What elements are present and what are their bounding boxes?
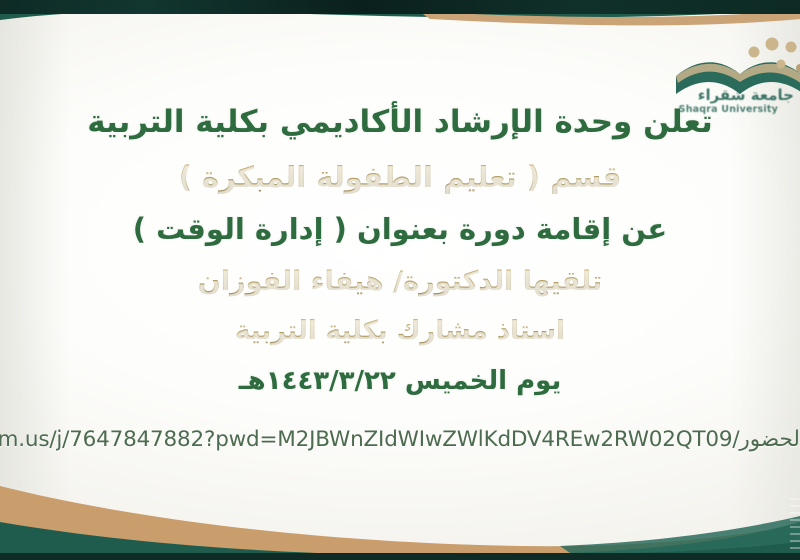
bottom-wave-decoration: [0, 450, 800, 560]
announcement-poster: جامعة شقراء Shaqra University تعلن وحدة …: [0, 0, 800, 560]
zoom-meeting-link[interactable]: https://zoom.us/j/7647847882?pwd=M2JBWnZ…: [0, 427, 739, 452]
right-edge-notches: [790, 498, 800, 554]
line-date: يوم الخميس ١٤٤٣/٣/٢٢هـ: [0, 366, 800, 396]
top-dark-band: [0, 0, 800, 14]
logo-english-name: Shaqra University: [679, 104, 778, 115]
line-department: قسم ( تعليم الطفولة المبكرة ): [0, 160, 800, 194]
line-presenter: تلقيها الدكتورة/ هيفاء الفوزان: [0, 266, 800, 297]
attendance-label: لحضور: [739, 427, 800, 452]
logo-arabic-name: جامعة شقراء: [698, 86, 794, 104]
line-presenter-rank: استاذ مشارك بكلية التربية: [0, 316, 800, 346]
zoom-link-row[interactable]: لحضورhttps://zoom.us/j/7647847882?pwd=M2…: [0, 427, 800, 459]
bottom-dark-edge: [0, 553, 800, 560]
line-course-title: عن إقامة دورة بعنوان ( إدارة الوقت ): [0, 212, 800, 246]
